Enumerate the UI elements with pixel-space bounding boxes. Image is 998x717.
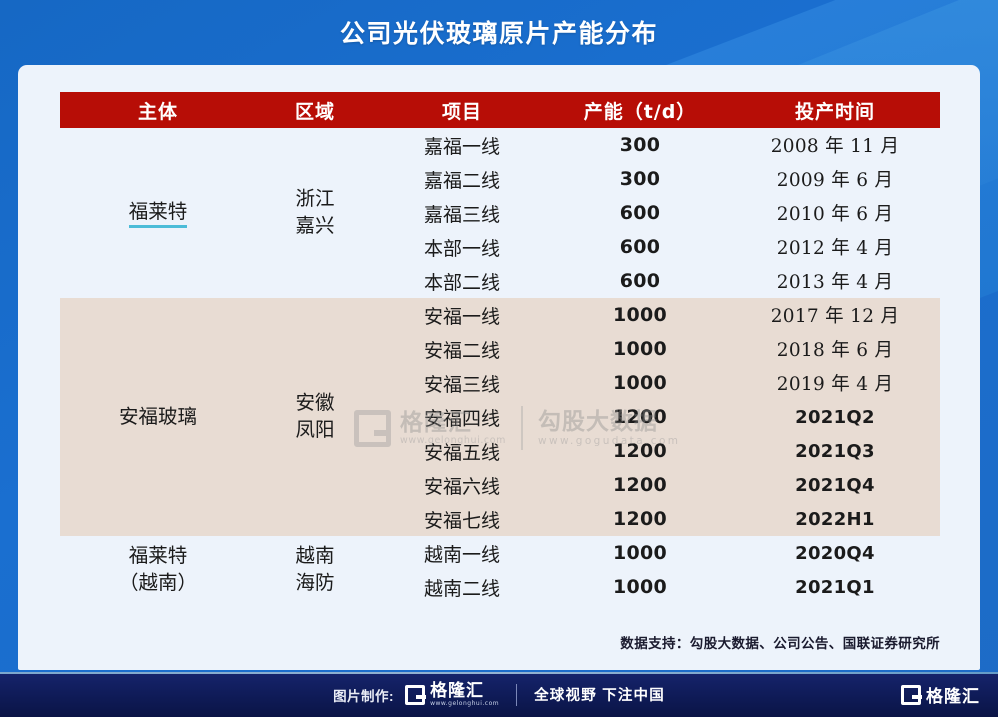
cell-project: 本部一线 — [374, 230, 550, 264]
cell-project: 安福二线 — [374, 332, 550, 366]
cell-time: 2012 年 4 月 — [730, 230, 940, 264]
cell-entity: 福莱特 — [60, 128, 256, 298]
cell-capacity: 600 — [550, 196, 730, 230]
cell-capacity: 600 — [550, 264, 730, 298]
table-header-row: 主体 区域 项目 产能（t/d） 投产时间 — [60, 92, 940, 128]
gelonghui-logo-icon — [901, 685, 921, 705]
cell-capacity: 1000 — [550, 536, 730, 570]
cell-time: 2017 年 12 月 — [730, 298, 940, 332]
cell-capacity: 600 — [550, 230, 730, 264]
data-source-note: 数据支持：勾股大数据、公司公告、国联证券研究所 — [620, 632, 940, 652]
cell-project: 安福三线 — [374, 366, 550, 400]
table-row: 福莱特浙江嘉兴嘉福一线3002008 年 11 月 — [60, 128, 940, 162]
cell-capacity: 1000 — [550, 298, 730, 332]
cell-project: 安福四线 — [374, 400, 550, 434]
cell-capacity: 1000 — [550, 570, 730, 604]
bottom-bar: 图片制作: 格隆汇 www.gelonghui.com 全球视野 下注中国 格隆… — [0, 672, 998, 717]
cell-project: 嘉福三线 — [374, 196, 550, 230]
cell-time: 2019 年 4 月 — [730, 366, 940, 400]
bottom-bar-center: 图片制作: 格隆汇 www.gelonghui.com 全球视野 下注中国 — [0, 682, 998, 707]
cell-entity: 安福玻璃 — [60, 298, 256, 536]
table-row: 福莱特（越南）越南海防越南一线10002020Q4 — [60, 536, 940, 570]
cell-project: 安福七线 — [374, 502, 550, 536]
cell-region: 越南海防 — [256, 536, 374, 604]
cell-capacity: 1200 — [550, 434, 730, 468]
bottom-bar-hairline — [0, 672, 998, 674]
cell-region-line: 浙江 — [256, 186, 374, 213]
content-card: 主体 区域 项目 产能（t/d） 投产时间 福莱特浙江嘉兴嘉福一线3002008… — [18, 65, 980, 670]
capacity-table: 主体 区域 项目 产能（t/d） 投产时间 福莱特浙江嘉兴嘉福一线3002008… — [60, 92, 940, 604]
gelonghui-logo-icon — [405, 685, 425, 705]
cell-time: 2022H1 — [730, 502, 940, 536]
bottom-bar-brand-text: 格隆汇 www.gelonghui.com — [430, 682, 499, 707]
table-row: 安福玻璃安徽凤阳安福一线10002017 年 12 月 — [60, 298, 940, 332]
cell-time: 2020Q4 — [730, 536, 940, 570]
cell-region: 浙江嘉兴 — [256, 128, 374, 298]
cell-entity-line: （越南） — [60, 570, 256, 597]
cell-capacity: 300 — [550, 162, 730, 196]
cell-time: 2018 年 6 月 — [730, 332, 940, 366]
cell-capacity: 300 — [550, 128, 730, 162]
cell-project: 安福一线 — [374, 298, 550, 332]
cell-capacity: 1200 — [550, 468, 730, 502]
bottom-bar-brand-name: 格隆汇 — [430, 682, 499, 699]
cell-capacity: 1200 — [550, 502, 730, 536]
cell-time: 2013 年 4 月 — [730, 264, 940, 298]
cell-project: 本部二线 — [374, 264, 550, 298]
cell-time: 2021Q1 — [730, 570, 940, 604]
bottom-bar-right-brand-name: 格隆汇 — [926, 682, 980, 707]
column-header-region: 区域 — [256, 92, 374, 128]
cell-entity-line: 福莱特 — [60, 543, 256, 570]
cell-capacity: 1000 — [550, 332, 730, 366]
cell-capacity: 1000 — [550, 366, 730, 400]
cell-entity-text: 安福玻璃 — [119, 405, 197, 428]
cell-time: 2008 年 11 月 — [730, 128, 940, 162]
column-header-capacity: 产能（t/d） — [550, 92, 730, 128]
cell-project: 越南二线 — [374, 570, 550, 604]
table-body: 福莱特浙江嘉兴嘉福一线3002008 年 11 月嘉福二线3002009 年 6… — [60, 128, 940, 604]
cell-project: 安福五线 — [374, 434, 550, 468]
cell-region-line: 越南 — [256, 543, 374, 570]
cell-time: 2010 年 6 月 — [730, 196, 940, 230]
cell-entity-text: 福莱特 — [129, 201, 188, 228]
cell-project: 越南一线 — [374, 536, 550, 570]
title-band: 公司光伏玻璃原片产能分布 — [0, 0, 998, 64]
cell-project: 嘉福一线 — [374, 128, 550, 162]
made-by-label: 图片制作: — [333, 685, 394, 705]
bottom-bar-separator — [516, 684, 517, 706]
cell-region-line: 凤阳 — [256, 417, 374, 444]
page-title: 公司光伏玻璃原片产能分布 — [340, 14, 658, 50]
slide-canvas: 公司光伏玻璃原片产能分布 主体 区域 项目 产能（t/d） 投产时间 福莱特浙江… — [0, 0, 998, 717]
cell-region-line: 嘉兴 — [256, 213, 374, 240]
bottom-bar-brand-url: www.gelonghui.com — [430, 701, 499, 707]
cell-region: 安徽凤阳 — [256, 298, 374, 536]
bottom-bar-brand[interactable]: 格隆汇 www.gelonghui.com — [405, 682, 499, 707]
column-header-time: 投产时间 — [730, 92, 940, 128]
cell-region-line: 海防 — [256, 570, 374, 597]
cell-region-line: 安徽 — [256, 390, 374, 417]
cell-entity: 福莱特（越南） — [60, 536, 256, 604]
cell-time: 2009 年 6 月 — [730, 162, 940, 196]
table-header: 主体 区域 项目 产能（t/d） 投产时间 — [60, 92, 940, 128]
cell-project: 安福六线 — [374, 468, 550, 502]
cell-capacity: 1200 — [550, 400, 730, 434]
cell-project: 嘉福二线 — [374, 162, 550, 196]
cell-time: 2021Q4 — [730, 468, 940, 502]
cell-time: 2021Q2 — [730, 400, 940, 434]
column-header-entity: 主体 — [60, 92, 256, 128]
bottom-bar-right-brand[interactable]: 格隆汇 — [901, 682, 980, 707]
column-header-project: 项目 — [374, 92, 550, 128]
cell-time: 2021Q3 — [730, 434, 940, 468]
bottom-bar-slogan: 全球视野 下注中国 — [534, 684, 665, 705]
